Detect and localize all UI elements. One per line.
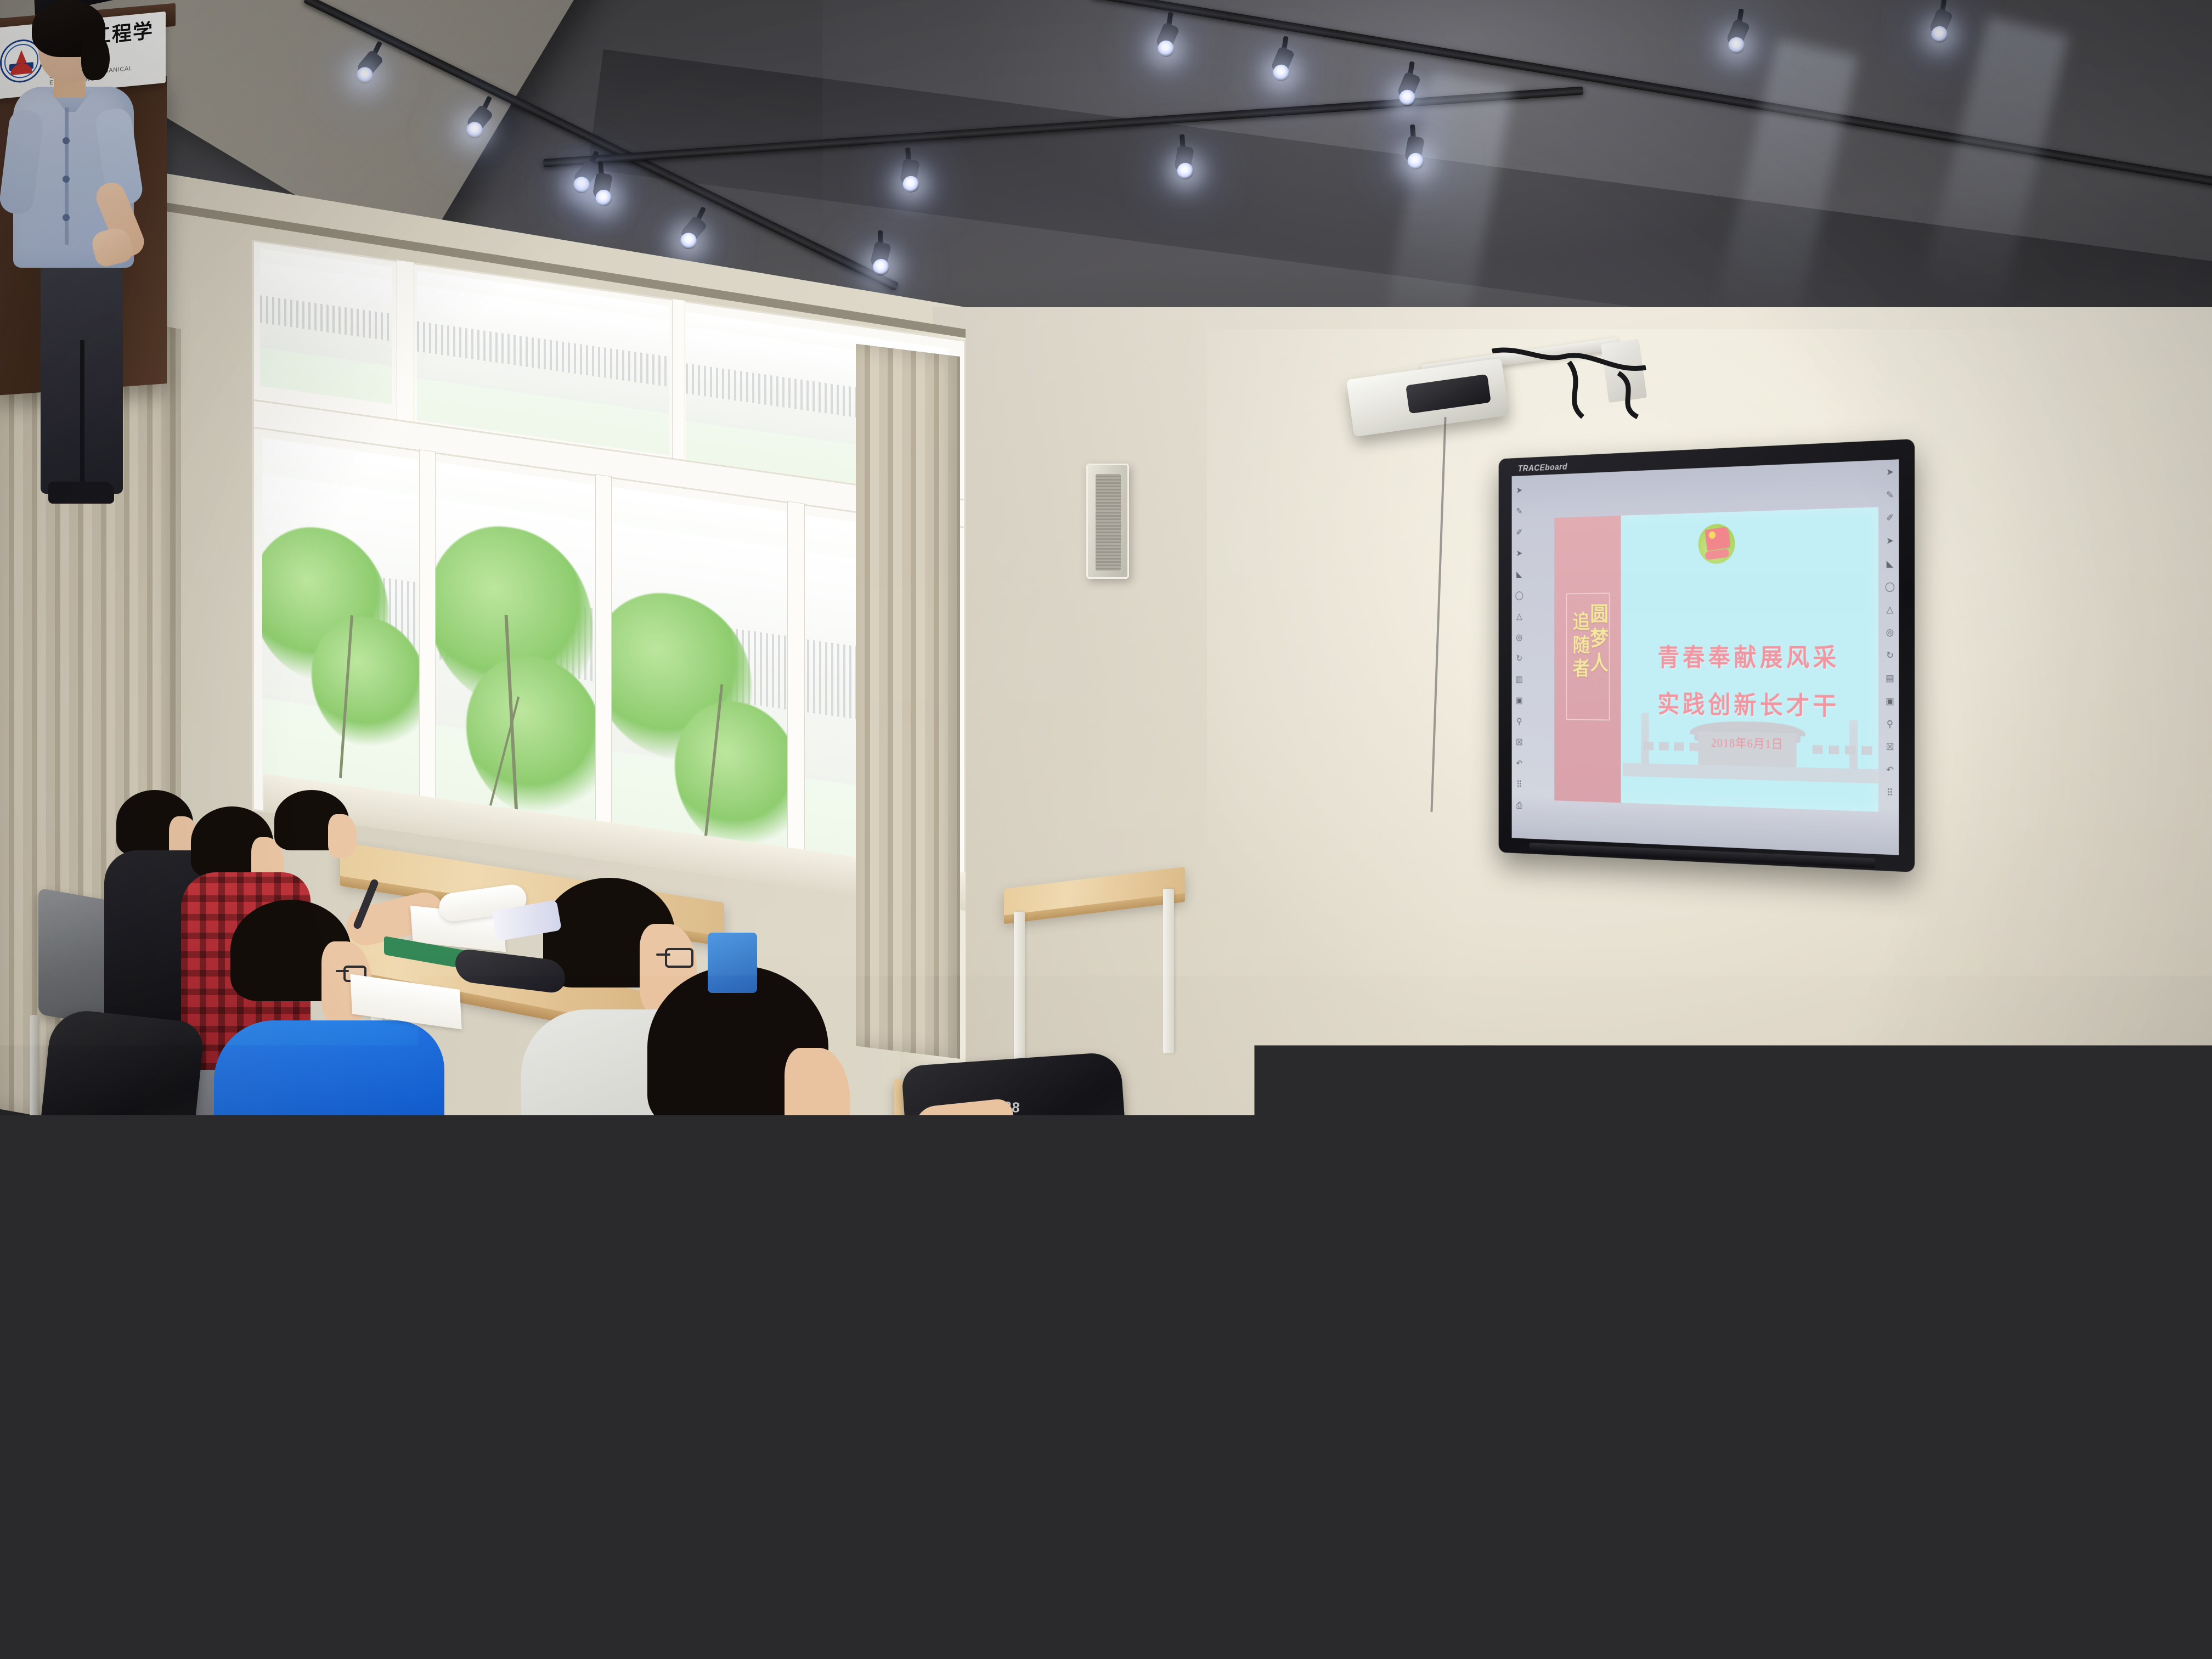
sneaker-laces: [1234, 1520, 1322, 1558]
pen-icon[interactable]: ✎: [1883, 490, 1897, 500]
interactive-whiteboard[interactable]: TRACEboard ➤ ✎ ✐ ➤ ◣ ◯ △ ◎ ↻ ▥ ▣ ⚲ ☒ ↶ ⠿…: [1499, 439, 1915, 872]
glasses-icon: [665, 948, 693, 968]
highlighter-icon[interactable]: ✐: [1514, 528, 1525, 537]
wall-speaker: [1086, 464, 1129, 579]
triangle-icon[interactable]: △: [1514, 612, 1525, 621]
window-icon[interactable]: ▣: [1883, 696, 1897, 706]
window-icon[interactable]: ▣: [1514, 696, 1525, 705]
grid-icon[interactable]: ⠿: [1514, 780, 1525, 789]
cursor-icon[interactable]: ➤: [1883, 467, 1897, 477]
backpack-on-floor[interactable]: [36, 1007, 206, 1182]
marker-icon[interactable]: ✐: [1883, 513, 1897, 523]
classroom-photo: TRACEboard ➤ ✎ ✐ ➤ ◣ ◯ △ ◎ ↻ ▥ ▣ ⚲ ☒ ↶ ⠿…: [0, 0, 2212, 1659]
window-main-pane: [609, 487, 790, 878]
pen-icon[interactable]: ✎: [1514, 507, 1525, 516]
keyboard-icon[interactable]: ▤: [1883, 674, 1897, 683]
refresh-icon[interactable]: ↻: [1514, 654, 1525, 663]
student-hand-on-backpack: [913, 1098, 1018, 1173]
curtain-right: [856, 344, 960, 1059]
blue-stool[interactable]: [708, 933, 757, 993]
notebook-script-text: Diary: [1908, 1599, 1955, 1629]
projected-slide: 圆梦人 追随者 青春奉献展风采 实践创新长才干 2018年6月1日: [1554, 507, 1878, 811]
window-main-pane: [262, 438, 421, 822]
shape-icon[interactable]: ◯: [1883, 582, 1897, 591]
highlighter-icon[interactable]: ➤: [1883, 536, 1897, 546]
slide-headline-line1: 青春奉献展风采: [1627, 637, 1873, 673]
shape-icon[interactable]: ◯: [1514, 591, 1525, 600]
eraser-icon[interactable]: ◣: [1514, 570, 1525, 579]
link-icon[interactable]: ⚲: [1514, 717, 1525, 726]
undo-icon[interactable]: ↶: [1883, 765, 1897, 775]
window-main-pane: [433, 462, 598, 850]
close-icon[interactable]: ☒: [1883, 742, 1897, 752]
cursor-icon[interactable]: ➤: [1514, 486, 1525, 494]
eraser-icon[interactable]: ◣: [1883, 559, 1897, 568]
window-transom-pane: [260, 249, 392, 404]
undo-icon[interactable]: ↶: [1514, 759, 1525, 768]
wall-power-outlet[interactable]: [1462, 1045, 1496, 1076]
circle-icon[interactable]: ◎: [1883, 628, 1897, 637]
link-icon[interactable]: ⚲: [1883, 719, 1897, 729]
grid-icon[interactable]: ⠿: [1883, 788, 1897, 798]
slide-sidebar: 圆梦人 追随者: [1554, 516, 1621, 803]
refresh-icon[interactable]: ↻: [1883, 651, 1897, 660]
camera-icon[interactable]: ▥: [1514, 675, 1525, 684]
wall-power-outlet[interactable]: [1975, 1169, 2007, 1196]
close-icon[interactable]: ☒: [1514, 738, 1525, 747]
whiteboard-surface[interactable]: ➤ ✎ ✐ ➤ ◣ ◯ △ ◎ ↻ ▥ ▣ ⚲ ☒ ↶ ⠿ ⎙ ➤ ✎ ✐ ➤ …: [1512, 459, 1899, 855]
triangle-icon[interactable]: △: [1883, 605, 1897, 614]
circle-icon[interactable]: ◎: [1514, 633, 1525, 642]
communist-youth-league-emblem-icon: [1699, 523, 1735, 564]
tiananmen-gate-illustration: [1623, 707, 1878, 792]
projector-cables: [1481, 340, 1662, 439]
pointer-icon[interactable]: ➤: [1514, 549, 1525, 557]
print-icon[interactable]: ⎙: [1514, 801, 1525, 810]
slide-sidebar-text-left: 追随者: [1567, 611, 1592, 681]
presenter-shoe: [48, 482, 114, 504]
